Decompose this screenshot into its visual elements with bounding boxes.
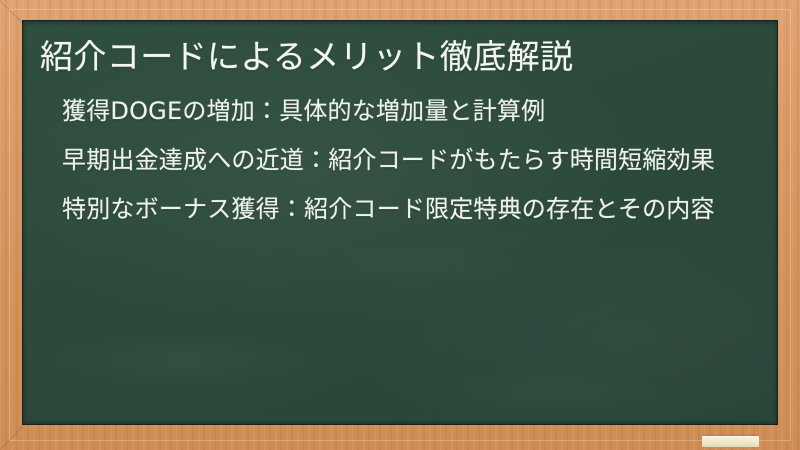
chalk-stick-icon [702, 436, 759, 447]
frame-corner-mitre-bottom-left [0, 425, 24, 450]
chalkboard-surface: 紹介コードによるメリット徹底解説 獲得DOGEの増加：具体的な増加量と計算例 早… [22, 20, 778, 425]
slide-title: 紹介コードによるメリット徹底解説 [34, 36, 752, 78]
board-content: 紹介コードによるメリット徹底解説 獲得DOGEの増加：具体的な増加量と計算例 早… [22, 20, 778, 225]
bullet-item-2: 早期出金達成への近道：紹介コードがもたらす時間短縮効果 [62, 145, 746, 177]
bullet-item-3: 特別なボーナス獲得：紹介コード限定特典の存在とその内容 [62, 194, 746, 226]
chalkboard-slide: 紹介コードによるメリット徹底解説 獲得DOGEの増加：具体的な増加量と計算例 早… [0, 0, 800, 450]
bullet-item-1: 獲得DOGEの増加：具体的な増加量と計算例 [62, 96, 746, 128]
bullet-list: 獲得DOGEの増加：具体的な増加量と計算例 早期出金達成への近道：紹介コードがも… [34, 96, 752, 225]
frame-corner-mitre-top-left [0, 0, 24, 25]
